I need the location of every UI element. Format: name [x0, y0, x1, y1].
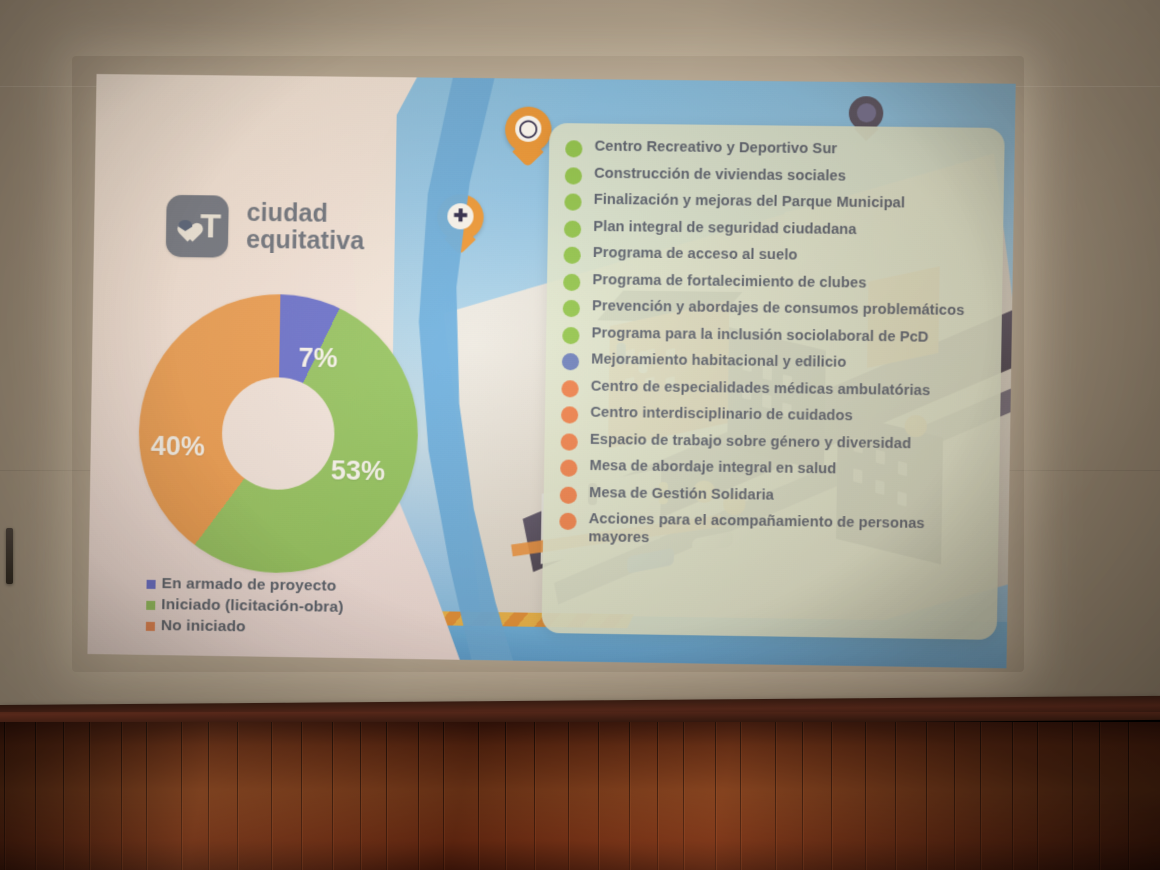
- photo-scene: ◯ ✚ T: [0, 0, 1160, 870]
- wood-wainscot: [0, 722, 1160, 870]
- wood-shadow: [0, 722, 1160, 870]
- photo-vignette: [0, 0, 1160, 712]
